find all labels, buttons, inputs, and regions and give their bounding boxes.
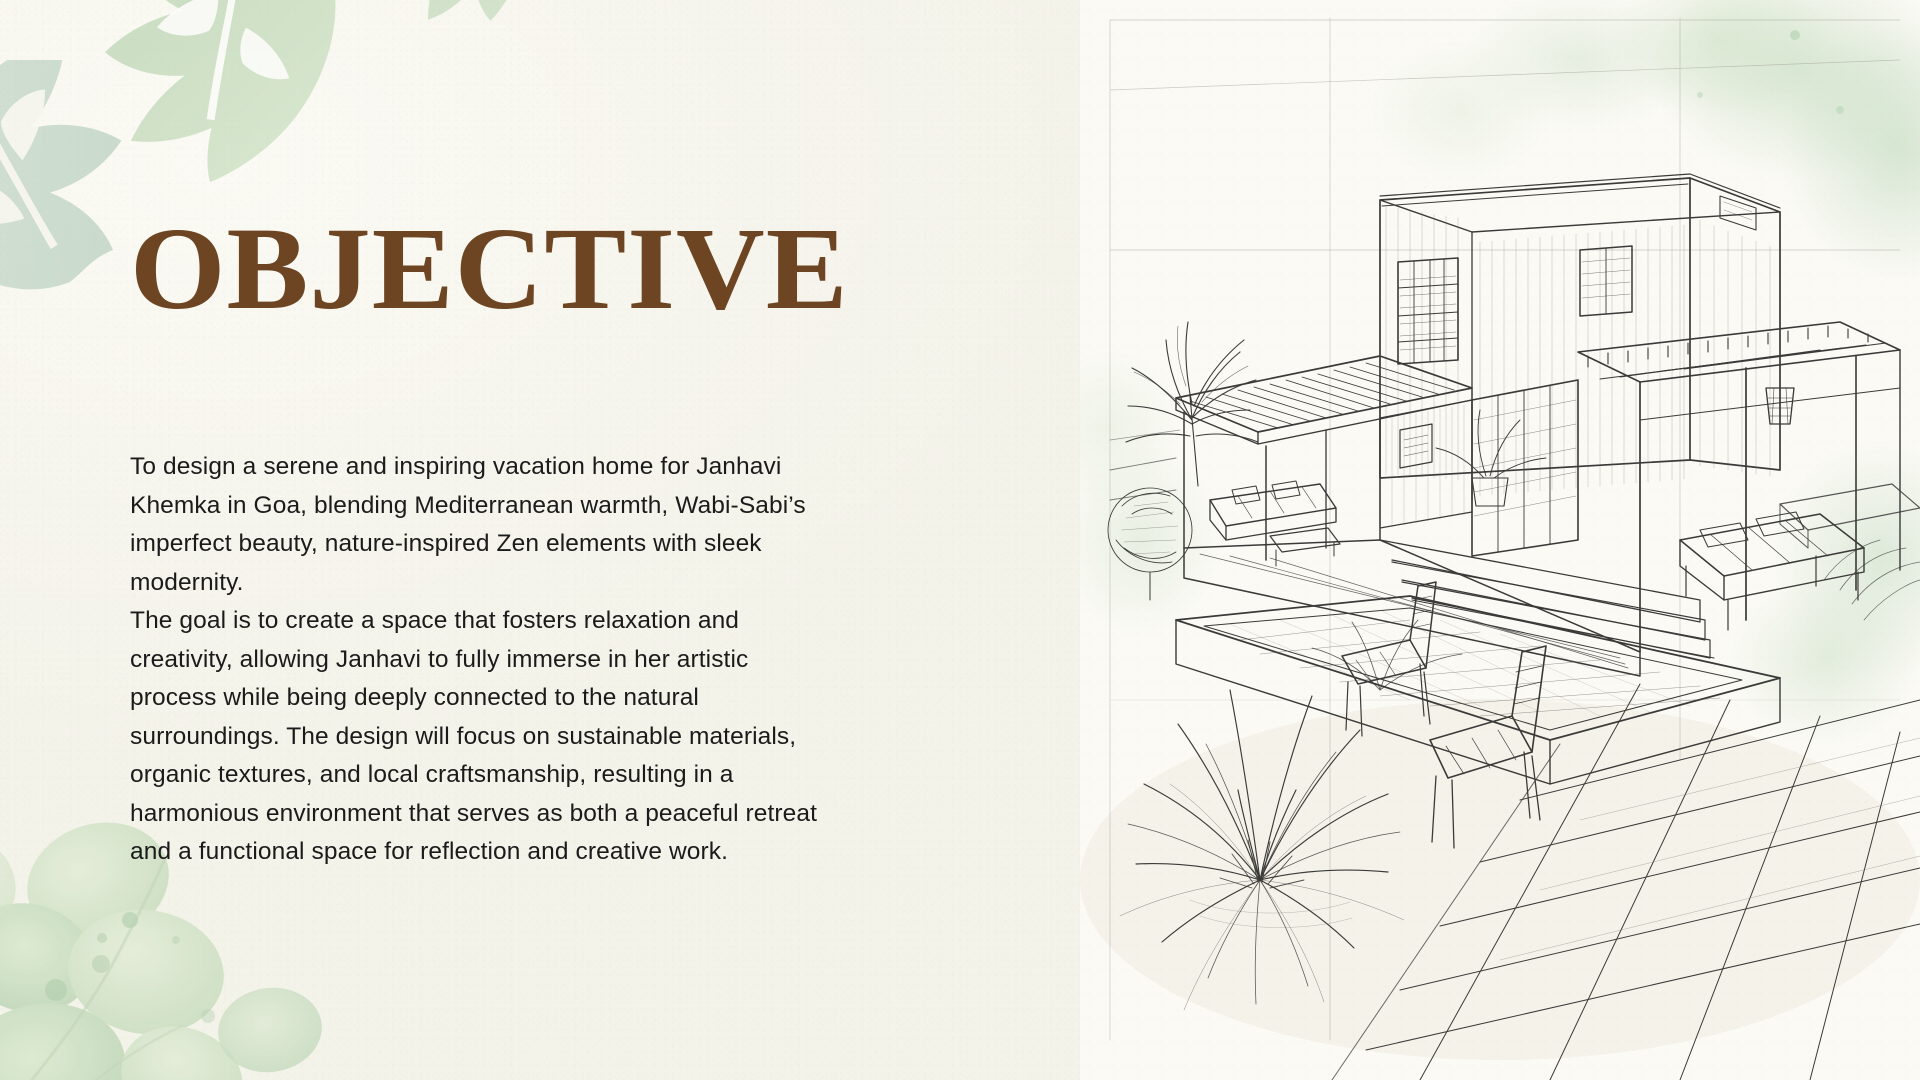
illustration-panel [1080,0,1920,1080]
objective-paragraph-1: To design a serene and inspiring vacatio… [130,448,830,602]
slide-canvas: OBJECTIVE To design a serene and inspiri… [0,0,1920,1080]
objective-paragraph-2: The goal is to create a space that foste… [130,602,830,872]
body-text-block: To design a serene and inspiring vacatio… [130,448,830,872]
title-block: OBJECTIVE [130,210,890,328]
page-title: OBJECTIVE [130,210,920,328]
left-content-panel: OBJECTIVE To design a serene and inspiri… [0,0,1080,1080]
sketch-paper-texture [1080,0,1920,1080]
